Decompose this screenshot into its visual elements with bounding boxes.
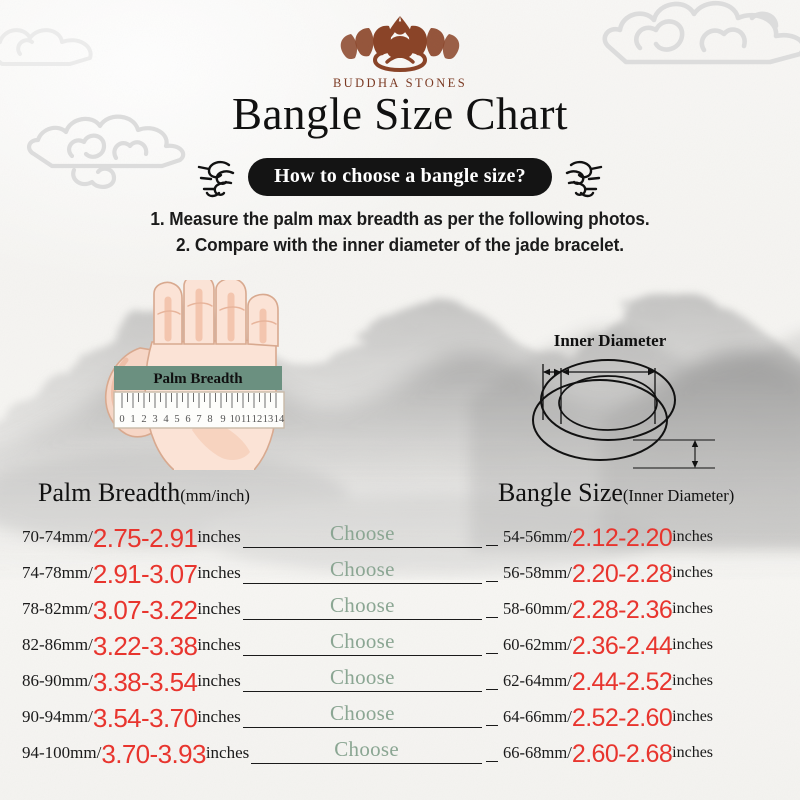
bangle-size-row: 60-62mm/2.36-2.44inches <box>486 627 786 663</box>
svg-text:8: 8 <box>207 414 212 425</box>
palm-breadth-table: 70-74mm/2.75-2.91inchesChoose74-78mm/2.9… <box>22 519 482 771</box>
svg-text:3: 3 <box>152 414 157 425</box>
bangle-size-inch-range: 2.52-2.60 <box>572 706 672 731</box>
bangle-size-mm-range: 60-62mm <box>503 635 567 655</box>
palm-breadth-inch-range: 3.70-3.93 <box>101 741 205 767</box>
choose-write-in-line <box>243 655 482 656</box>
bangle-size-row: 64-66mm/2.52-2.60inches <box>486 699 786 735</box>
choose-button[interactable]: Choose <box>330 593 395 618</box>
palm-breadth-row: 70-74mm/2.75-2.91inchesChoose <box>22 519 482 555</box>
palm-breadth-row: 94-100mm/3.70-3.93inchesChoose <box>22 735 482 771</box>
palm-breadth-inch-unit: inches <box>197 527 240 547</box>
choose-slot[interactable]: Choose <box>243 663 482 699</box>
svg-text:14: 14 <box>274 414 285 425</box>
palm-breadth-inch-unit: inches <box>197 671 240 691</box>
bangle-size-inch-range: 2.20-2.28 <box>572 562 672 587</box>
palm-breadth-inch-unit: inches <box>197 707 240 727</box>
section-heading-palm-breadth-title: Palm Breadth <box>38 478 180 507</box>
row-connector-line <box>486 617 498 618</box>
palm-breadth-band-label: Palm Breadth <box>153 371 243 387</box>
palm-breadth-row: 86-90mm/3.38-3.54inchesChoose <box>22 663 482 699</box>
bangle-size-mm-range: 66-68mm <box>503 743 567 763</box>
open-palm-hand-icon: Palm Breadth 01 23 45 67 89 1011 1213 14 <box>96 280 326 470</box>
row-connector-line <box>486 653 498 654</box>
bangle-size-inch-unit: inches <box>672 744 713 762</box>
svg-text:10: 10 <box>230 414 241 425</box>
row-connector-line <box>486 725 498 726</box>
palm-breadth-row: 82-86mm/3.22-3.38inchesChoose <box>22 627 482 663</box>
palm-breadth-inch-range: 3.22-3.38 <box>93 633 197 659</box>
palm-breadth-inch-range: 3.54-3.70 <box>93 705 197 731</box>
choose-write-in-line <box>243 619 482 620</box>
palm-breadth-inch-range: 3.07-3.22 <box>93 597 197 623</box>
svg-text:13: 13 <box>263 414 274 425</box>
palm-breadth-mm-range: 78-82mm <box>22 599 88 619</box>
palm-breadth-mm-range: 86-90mm <box>22 671 88 691</box>
row-connector-line <box>486 761 498 762</box>
svg-text:9: 9 <box>220 414 225 425</box>
instruction-line-1: 1. Measure the palm max breadth as per t… <box>28 206 772 232</box>
bangle-size-mm-range: 56-58mm <box>503 563 567 583</box>
choose-slot[interactable]: Choose <box>251 735 482 771</box>
bangle-size-inch-range: 2.12-2.20 <box>572 526 672 551</box>
svg-text:5: 5 <box>174 414 179 425</box>
choose-slot[interactable]: Choose <box>243 555 482 591</box>
bangle-size-row: 54-56mm/2.12-2.20inches <box>486 519 786 555</box>
choose-slot[interactable]: Choose <box>243 699 482 735</box>
section-heading-bangle-size-note: (Inner Diameter) <box>623 486 734 505</box>
palm-breadth-inch-unit: inches <box>206 743 249 763</box>
bangle-size-row: 58-60mm/2.28-2.36inches <box>486 591 786 627</box>
section-heading-bangle-size-title: Bangle Size <box>498 478 623 507</box>
bangle-size-inch-range: 2.44-2.52 <box>572 670 672 695</box>
section-heading-bangle-size: Bangle Size(Inner Diameter) <box>498 478 734 508</box>
bangle-size-inch-unit: inches <box>672 708 713 726</box>
svg-text:1: 1 <box>130 414 135 425</box>
palm-breadth-mm-range: 94-100mm <box>22 743 97 763</box>
lotus-meditation-icon <box>335 12 465 74</box>
choose-slot[interactable]: Choose <box>243 591 482 627</box>
bangle-size-mm-range: 54-56mm <box>503 527 567 547</box>
row-connector-line <box>486 581 498 582</box>
bangle-size-inch-unit: inches <box>672 636 713 654</box>
svg-text:0: 0 <box>119 414 124 425</box>
bangle-size-row: 56-58mm/2.20-2.28inches <box>486 555 786 591</box>
page-title: Bangle Size Chart <box>0 88 800 140</box>
section-heading-palm-breadth-note: (mm/inch) <box>180 486 250 505</box>
palm-breadth-mm-range: 90-94mm <box>22 707 88 727</box>
brand-logo-block: BUDDHA STONES <box>0 12 800 91</box>
svg-text:6: 6 <box>185 414 190 425</box>
choose-button[interactable]: Choose <box>330 521 395 546</box>
row-connector-line <box>486 545 498 546</box>
svg-text:2: 2 <box>141 414 146 425</box>
subtitle-pill: How to choose a bangle size? <box>248 158 552 196</box>
choose-button[interactable]: Choose <box>330 665 395 690</box>
palm-breadth-inch-unit: inches <box>197 599 240 619</box>
inner-diameter-caption: Inner Diameter <box>554 331 667 350</box>
choose-write-in-line <box>251 763 482 764</box>
bangle-size-inch-unit: inches <box>672 600 713 618</box>
choose-write-in-line <box>243 691 482 692</box>
choose-write-in-line <box>243 583 482 584</box>
palm-breadth-inch-range: 3.38-3.54 <box>93 669 197 695</box>
bangle-size-mm-range: 58-60mm <box>503 599 567 619</box>
bangle-size-inch-range: 2.28-2.36 <box>572 598 672 623</box>
cloud-swirl-ornament-left-icon <box>197 155 235 199</box>
palm-breadth-inch-unit: inches <box>197 563 240 583</box>
palm-breadth-row: 90-94mm/3.54-3.70inchesChoose <box>22 699 482 735</box>
palm-breadth-inch-unit: inches <box>197 635 240 655</box>
palm-breadth-mm-range: 74-78mm <box>22 563 88 583</box>
choose-button[interactable]: Choose <box>330 629 395 654</box>
instructions-list: 1. Measure the palm max breadth as per t… <box>0 206 800 259</box>
bangle-size-inch-unit: inches <box>672 564 713 582</box>
row-connector-line <box>486 689 498 690</box>
choose-slot[interactable]: Choose <box>243 627 482 663</box>
bangle-size-mm-range: 64-66mm <box>503 707 567 727</box>
bangle-ring-diagram-icon: Inner Diameter <box>505 328 735 478</box>
bangle-size-row: 62-64mm/2.44-2.52inches <box>486 663 786 699</box>
bangle-size-inch-range: 2.36-2.44 <box>572 634 672 659</box>
palm-breadth-inch-range: 2.91-3.07 <box>93 561 197 587</box>
palm-breadth-row: 74-78mm/2.91-3.07inchesChoose <box>22 555 482 591</box>
svg-text:7: 7 <box>196 414 201 425</box>
bangle-size-inch-unit: inches <box>672 528 713 546</box>
bangle-size-mm-range: 62-64mm <box>503 671 567 691</box>
palm-breadth-row: 78-82mm/3.07-3.22inchesChoose <box>22 591 482 627</box>
palm-breadth-mm-range: 70-74mm <box>22 527 88 547</box>
section-heading-palm-breadth: Palm Breadth(mm/inch) <box>38 478 250 508</box>
choose-button[interactable]: Choose <box>334 737 399 762</box>
subtitle-row: How to choose a bangle size? <box>0 155 800 199</box>
bangle-size-row: 66-68mm/2.60-2.68inches <box>486 735 786 771</box>
svg-text:12: 12 <box>252 414 263 425</box>
instruction-line-2: 2. Compare with the inner diameter of th… <box>28 232 772 258</box>
choose-write-in-line <box>243 727 482 728</box>
bangle-size-table: 54-56mm/2.12-2.20inches56-58mm/2.20-2.28… <box>486 519 786 771</box>
choose-write-in-line <box>243 547 482 548</box>
choose-button[interactable]: Choose <box>330 557 395 582</box>
svg-text:4: 4 <box>163 414 169 425</box>
choose-button[interactable]: Choose <box>330 701 395 726</box>
bangle-size-inch-unit: inches <box>672 672 713 690</box>
svg-text:11: 11 <box>241 414 251 425</box>
palm-breadth-mm-range: 82-86mm <box>22 635 88 655</box>
cloud-swirl-ornament-right-icon <box>565 155 603 199</box>
choose-slot[interactable]: Choose <box>243 519 482 555</box>
bangle-size-chart-page: BUDDHA STONES Bangle Size Chart How to c… <box>0 0 800 800</box>
palm-breadth-inch-range: 2.75-2.91 <box>93 525 197 551</box>
bangle-size-inch-range: 2.60-2.68 <box>572 742 672 767</box>
